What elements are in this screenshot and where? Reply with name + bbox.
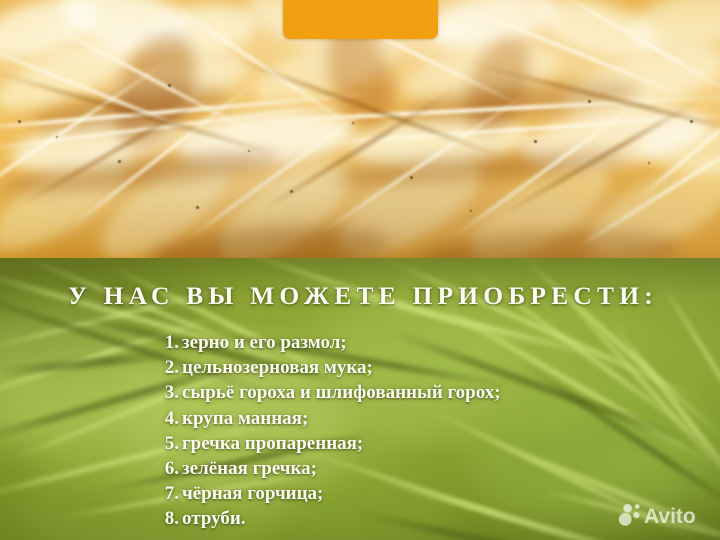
list-item-number: 2. — [0, 355, 182, 380]
list-item-label: зелёная гречка; — [182, 456, 317, 481]
list-item-number: 1. — [0, 330, 182, 355]
list-item: 4. крупа манная; — [0, 406, 720, 431]
list-item-number: 8. — [0, 506, 182, 531]
list-item: 2. цельнозерновая мука; — [0, 355, 720, 380]
list-item: 3. сырьё гороха и шлифованный горох; — [0, 380, 720, 405]
poster-image: У НАС ВЫ МОЖЕТЕ ПРИОБРЕСТИ: 1. зерно и е… — [0, 0, 720, 540]
list-item-label: сырьё гороха и шлифованный горох; — [182, 380, 501, 405]
avito-logo-icon: Avito — [618, 502, 710, 528]
list-item-number: 4. — [0, 406, 182, 431]
list-item-label: крупа манная; — [182, 406, 308, 431]
avito-logo-text: Avito — [644, 505, 696, 528]
list-item: 1. зерно и его размол; — [0, 330, 720, 355]
list-item-number: 5. — [0, 431, 182, 456]
list-item: 5. гречка пропаренная; — [0, 431, 720, 456]
list-item: 8. отруби. — [0, 506, 720, 531]
list-item-label: цельнозерновая мука; — [182, 355, 373, 380]
avito-watermark: Avito — [618, 502, 710, 528]
list-item-number: 7. — [0, 481, 182, 506]
page-title: У НАС ВЫ МОЖЕТЕ ПРИОБРЕСТИ: — [0, 283, 720, 309]
list-item-label: чёрная горчица; — [182, 481, 323, 506]
list-item-label: зерно и его размол; — [182, 330, 347, 355]
list-item-number: 6. — [0, 456, 182, 481]
list-item: 6. зелёная гречка; — [0, 456, 720, 481]
product-list: 1. зерно и его размол; 2. цельнозерновая… — [0, 330, 720, 532]
orange-banner[interactable] — [283, 0, 438, 39]
list-item-label: отруби. — [182, 506, 246, 531]
list-item-label: гречка пропаренная; — [182, 431, 363, 456]
list-item-number: 3. — [0, 380, 182, 405]
list-item: 7. чёрная горчица; — [0, 481, 720, 506]
